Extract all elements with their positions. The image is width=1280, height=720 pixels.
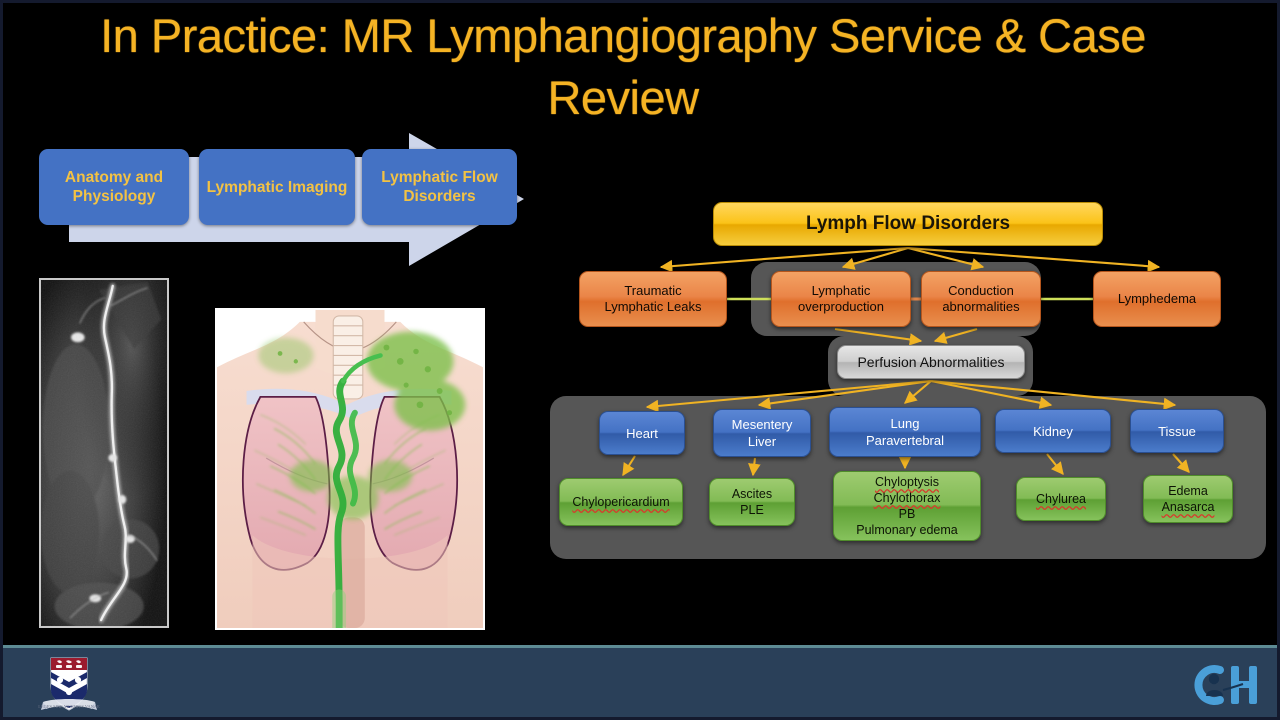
diagram-title-label: Lymph Flow Disorders bbox=[806, 213, 1010, 235]
node-chylurea[interactable]: Chylurea bbox=[1016, 477, 1106, 521]
sidebar-item-lymphatic-flow-disorders[interactable]: Lymphatic Flow Disorders bbox=[362, 149, 517, 225]
node-line: Lymphatic bbox=[798, 283, 884, 299]
node-line: Heart bbox=[626, 425, 658, 442]
node-line: Chyloptysis bbox=[856, 474, 957, 490]
node-lymphedema[interactable]: Lymphedema bbox=[1093, 271, 1221, 327]
node-line: Anasarca bbox=[1162, 499, 1215, 515]
node-ascites-ple[interactable]: Ascites PLE bbox=[709, 478, 795, 526]
page-title: In Practice: MR Lymphangiography Service… bbox=[43, 5, 1203, 129]
node-chyloptysis-chylothorax[interactable]: Chyloptysis Chylothorax PB Pulmonary ede… bbox=[833, 471, 981, 541]
node-line: Mesentery bbox=[732, 416, 793, 433]
svg-text:LEGES SINE MORIBVS VANAE: LEGES SINE MORIBVS VANAE bbox=[38, 704, 100, 709]
diagram-title-node: Lymph Flow Disorders bbox=[713, 202, 1103, 246]
node-line: Chylopericardium bbox=[572, 494, 669, 510]
node-line: Chylothorax bbox=[856, 490, 957, 506]
node-lymphatic-overproduction[interactable]: Lymphatic overproduction bbox=[771, 271, 911, 327]
node-line: Lung bbox=[866, 415, 944, 432]
node-traumatic-lymphatic-leaks[interactable]: Traumatic Lymphatic Leaks bbox=[579, 271, 727, 327]
node-line: overproduction bbox=[798, 299, 884, 315]
node-kidney[interactable]: Kidney bbox=[995, 409, 1111, 453]
node-line: Paravertebral bbox=[866, 432, 944, 449]
node-edema-anasarca[interactable]: Edema Anasarca bbox=[1143, 475, 1233, 523]
node-line: Ascites bbox=[732, 486, 772, 502]
node-line: Lymphatic Leaks bbox=[604, 299, 701, 315]
node-mesentery-liver[interactable]: Mesentery Liver bbox=[713, 409, 811, 457]
node-chylopericardium[interactable]: Chylopericardium bbox=[559, 478, 683, 526]
presentation-slide: In Practice: MR Lymphangiography Service… bbox=[0, 0, 1280, 720]
node-line: PB bbox=[856, 506, 957, 522]
node-line: Edema bbox=[1162, 483, 1215, 499]
node-line: Liver bbox=[732, 433, 793, 450]
node-lung-paravertebral[interactable]: Lung Paravertebral bbox=[829, 407, 981, 457]
node-line: Tissue bbox=[1158, 423, 1196, 440]
node-line: PLE bbox=[732, 502, 772, 518]
node-line: Traumatic bbox=[604, 283, 701, 299]
node-tissue[interactable]: Tissue bbox=[1130, 409, 1224, 453]
nav-chip-label: Anatomy and Physiology bbox=[39, 168, 189, 206]
node-conduction-abnormalities[interactable]: Conduction abnormalities bbox=[921, 271, 1041, 327]
node-line: abnormalities bbox=[942, 299, 1019, 315]
node-line: Lymphedema bbox=[1118, 291, 1196, 307]
lymph-flow-disorders-diagram: Lymph Flow Disorders Traumatic Lymphatic… bbox=[543, 198, 1273, 573]
nav-chip-label: Lymphatic Flow Disorders bbox=[362, 168, 517, 206]
node-line: Perfusion Abnormalities bbox=[857, 354, 1004, 370]
slide-footer: LEGES SINE MORIBVS VANAE bbox=[3, 645, 1277, 717]
node-line: Chylurea bbox=[1036, 491, 1086, 507]
node-heart[interactable]: Heart bbox=[599, 411, 685, 455]
node-perfusion-abnormalities[interactable]: Perfusion Abnormalities bbox=[837, 345, 1025, 379]
thoracic-lymphatic-anatomy-image bbox=[215, 308, 485, 630]
chop-logo bbox=[1187, 656, 1259, 712]
node-line: Pulmonary edema bbox=[856, 522, 957, 538]
sidebar-item-lymphatic-imaging[interactable]: Lymphatic Imaging bbox=[199, 149, 355, 225]
node-line: Kidney bbox=[1033, 423, 1073, 440]
mr-lymphangiogram-image bbox=[39, 278, 169, 628]
nav-chip-label: Lymphatic Imaging bbox=[207, 178, 348, 197]
sidebar-item-anatomy-physiology[interactable]: Anatomy and Physiology bbox=[39, 149, 189, 225]
penn-shield-logo: LEGES SINE MORIBVS VANAE bbox=[37, 652, 101, 716]
node-line: Conduction bbox=[942, 283, 1019, 299]
